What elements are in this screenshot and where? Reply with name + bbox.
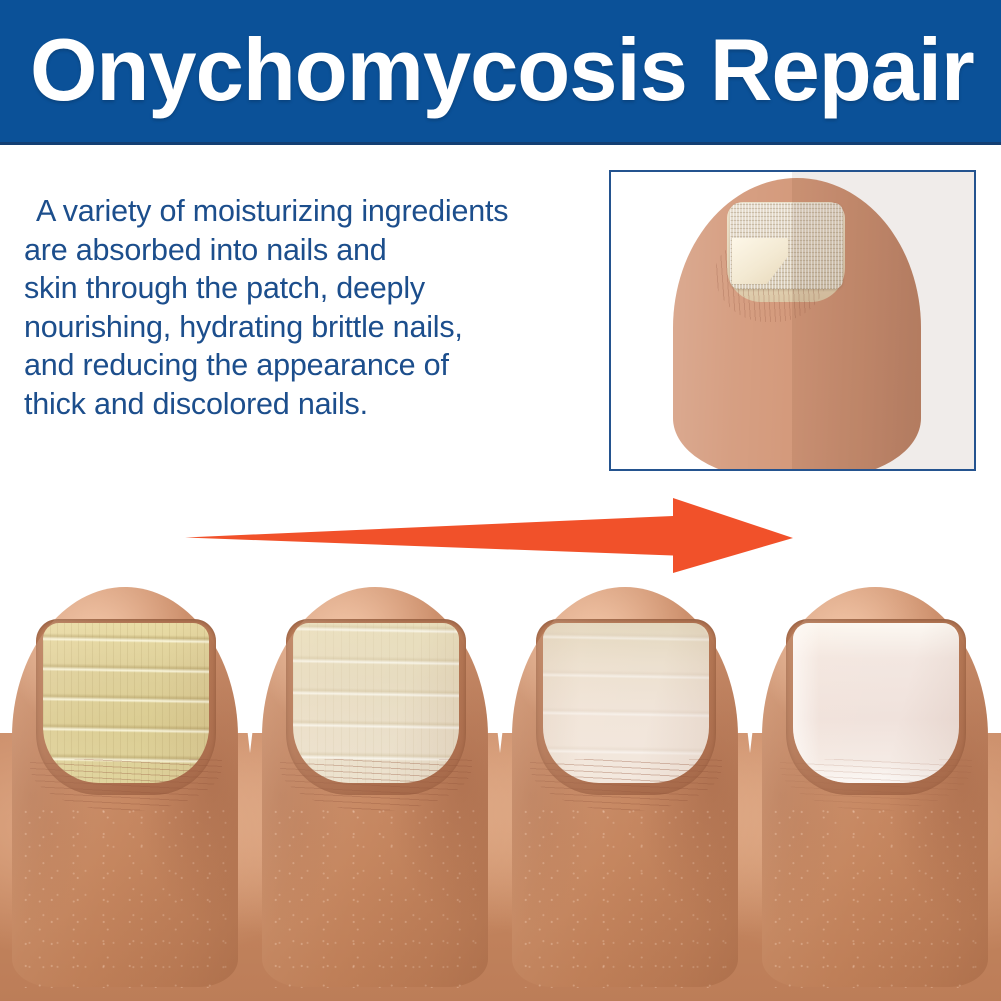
toe-stage-4-healthy bbox=[750, 583, 1000, 1001]
description-line: skin through the patch, deeply bbox=[24, 269, 584, 308]
arrow-shape bbox=[185, 498, 793, 573]
toe-highlight bbox=[762, 587, 988, 987]
description-line: A variety of moisturizing ingredients bbox=[24, 192, 584, 231]
toe-stage-1-severe bbox=[0, 583, 250, 1001]
description-line: thick and discolored nails. bbox=[24, 385, 584, 424]
page-title: Onychomycosis Repair bbox=[30, 16, 976, 124]
toe-stage-2-improving bbox=[250, 583, 500, 1001]
description-line: nourishing, hydrating brittle nails, bbox=[24, 308, 584, 347]
toe-highlight bbox=[262, 587, 488, 987]
toe-highlight bbox=[12, 587, 238, 987]
description-line: are absorbed into nails and bbox=[24, 231, 584, 270]
treatment-stages-strip bbox=[0, 583, 1001, 1001]
description-line: and reducing the appearance of bbox=[24, 346, 584, 385]
toe-with-patch-photo bbox=[611, 172, 974, 469]
toe-stage-3-clearing bbox=[500, 583, 750, 1001]
inset-photo-frame bbox=[609, 170, 976, 471]
product-poster: Onychomycosis Repair A variety of moistu… bbox=[0, 0, 1001, 1001]
progress-arrow-icon bbox=[185, 498, 793, 573]
description-paragraph: A variety of moisturizing ingredients ar… bbox=[24, 192, 584, 423]
toe-highlight bbox=[512, 587, 738, 987]
header-banner: Onychomycosis Repair bbox=[0, 0, 1001, 145]
